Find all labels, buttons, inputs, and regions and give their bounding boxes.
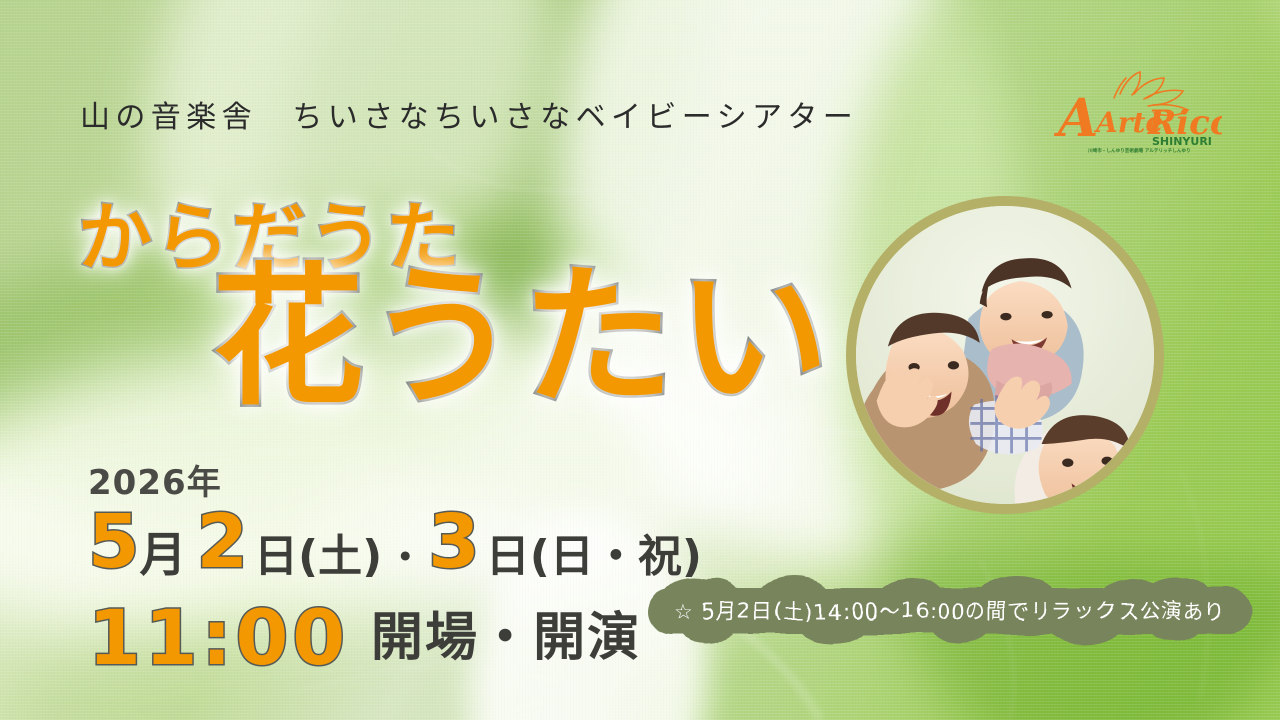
poster-canvas: 山の音楽舎 ちいさなちいさなベイビーシアター A Arte Ricca SHIN… [0,0,1280,720]
logo-subtitle-jp: 川崎市・しんゆり芸術劇場 アルテリッチしんゆり [1087,147,1191,154]
month-number: 5 [88,506,140,579]
schedule-block: 2026年 5 月 2 日(土) ・ 3 日(日・祝) 11:00 開場・開演 [88,455,702,675]
photo-circle [846,196,1164,514]
babies-photo [856,206,1154,504]
start-time: 11:00 [88,601,349,675]
day2-number: 3 [428,506,480,579]
day1-number: 2 [197,506,249,579]
day1-label: 日(土) [254,535,382,579]
main-title-hanautai: 花うたい [212,262,832,414]
logo-mark: A Arte Ricca SHINYURI 川崎市・しんゆり芸術劇場 アルテリッ… [1052,58,1222,154]
time-line: 11:00 開場・開演 [88,601,702,675]
badge-label: 5月2日(土)14:00〜16:00の間でリラックス公演あり [702,596,1227,626]
day2-label: 日(日・祝) [486,535,702,579]
year-label: 2026年 [88,455,702,504]
logo-letter-a: A [1053,88,1098,149]
date-separator: ・ [382,537,428,579]
logo-text-shinyuri: SHINYURI [1152,135,1212,148]
badge-star-icon: ☆ [674,599,694,623]
relax-performance-badge: ☆ 5月2日(土)14:00〜16:00の間でリラックス公演あり [648,588,1252,634]
header-tagline: 山の音楽舎 ちいさなちいさなベイビーシアター [80,92,858,136]
artericca-logo[interactable]: A Arte Ricca SHINYURI 川崎市・しんゆり芸術劇場 アルテリッ… [1052,58,1222,154]
time-label: 開場・開演 [371,612,641,664]
date-line: 5 月 2 日(土) ・ 3 日(日・祝) [88,506,702,579]
month-kanji: 月 [140,532,187,579]
